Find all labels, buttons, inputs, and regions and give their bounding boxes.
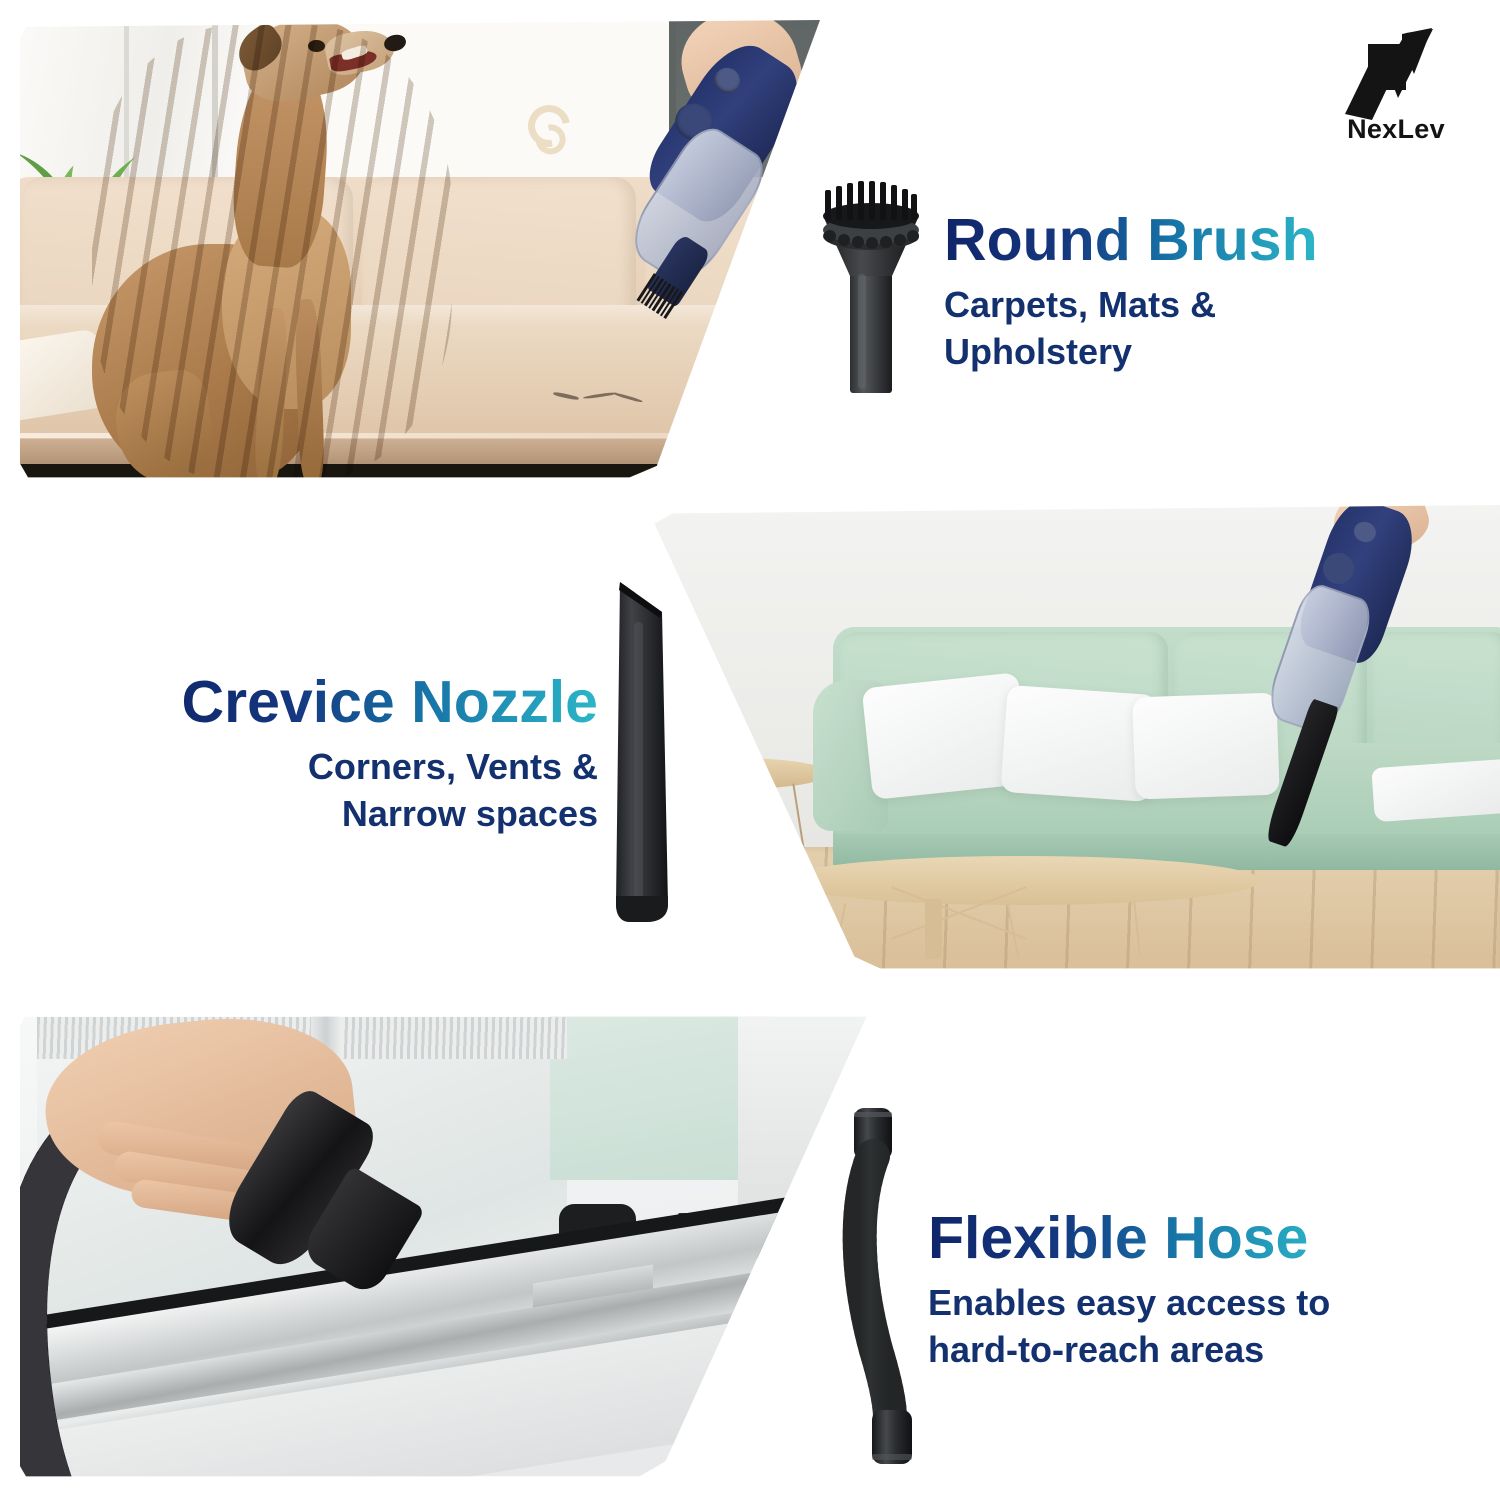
dog-subject bbox=[92, 25, 452, 482]
flexible-hose-accessory-image bbox=[828, 1098, 938, 1470]
feature-photo-flexible-hose bbox=[20, 1012, 875, 1480]
feature-title-flexible-hose: Flexible Hose bbox=[928, 1208, 1330, 1268]
feature-subtitle-line-2: hard-to-reach areas bbox=[928, 1327, 1330, 1374]
flexible-hose-attachment-icon bbox=[828, 1098, 938, 1470]
feature-text-crevice-nozzle: Crevice Nozzle Corners, Vents & Narrow s… bbox=[150, 672, 598, 838]
feature-text-flexible-hose: Flexible Hose Enables easy access to har… bbox=[928, 1208, 1330, 1374]
product-feature-infographic: NexLev bbox=[0, 0, 1500, 1500]
crevice-nozzle-attachment-icon bbox=[596, 556, 696, 928]
photo-window-track-cleaning bbox=[20, 1012, 875, 1480]
feature-subtitle-line-2: Upholstery bbox=[944, 329, 1318, 376]
crevice-nozzle-accessory-image bbox=[596, 556, 696, 928]
photo-mint-sofa-cleaning bbox=[645, 505, 1500, 973]
nexlev-lightning-n-logo-icon bbox=[1336, 28, 1456, 120]
feature-photo-round-brush bbox=[20, 20, 820, 482]
feature-subtitle-flexible-hose: Enables easy access to hard-to-reach are… bbox=[928, 1280, 1330, 1374]
handheld-vacuum-with-crevice-nozzle bbox=[1209, 505, 1431, 879]
feature-subtitle-line-1: Carpets, Mats & bbox=[944, 282, 1318, 329]
brand-logo: NexLev bbox=[1326, 28, 1466, 158]
feature-subtitle-crevice-nozzle: Corners, Vents & Narrow spaces bbox=[150, 744, 598, 838]
round-brush-accessory-image bbox=[806, 178, 936, 393]
feature-text-round-brush: Round Brush Carpets, Mats & Upholstery bbox=[944, 210, 1318, 376]
feature-subtitle-line-2: Narrow spaces bbox=[150, 791, 598, 838]
feature-subtitle-line-1: Corners, Vents & bbox=[150, 744, 598, 791]
photo-dog-on-sofa bbox=[20, 20, 820, 482]
feature-title-crevice-nozzle: Crevice Nozzle bbox=[150, 672, 598, 732]
round-brush-attachment-icon bbox=[806, 178, 936, 393]
feature-subtitle-round-brush: Carpets, Mats & Upholstery bbox=[944, 282, 1318, 376]
feature-title-round-brush: Round Brush bbox=[944, 210, 1318, 270]
brand-name: NexLev bbox=[1347, 114, 1445, 145]
feature-subtitle-line-1: Enables easy access to bbox=[928, 1280, 1330, 1327]
handheld-vacuum-with-round-brush bbox=[572, 20, 812, 371]
feature-photo-crevice-nozzle bbox=[645, 505, 1500, 973]
